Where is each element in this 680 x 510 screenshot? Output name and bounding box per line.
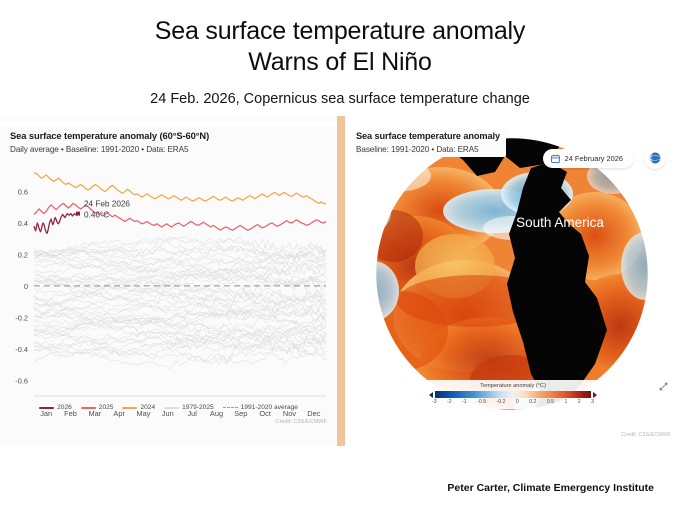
chart-panel-topbar [0, 122, 337, 127]
legend-swatch [223, 407, 238, 408]
y-axis-tick-label: 0.6 [18, 188, 28, 197]
ensemble-lines [34, 236, 326, 369]
colorbar-ticks: -3-2-1-0.5-0.200.20.5123 [429, 399, 597, 405]
colorbar-tick: 0.5 [547, 399, 554, 405]
legend-label: 2024 [140, 404, 155, 411]
y-axis-tick-label: 0.2 [18, 250, 28, 259]
globe-view-button[interactable] [644, 147, 666, 169]
globe-icon [648, 151, 662, 165]
map-panel: South America Sea surface temperature an… [345, 116, 680, 446]
chart-title: Sea surface temperature anomaly (60°S-60… [10, 130, 209, 141]
legend-item-2025[interactable]: 2025 [81, 404, 114, 411]
colorbar-tick: -0.2 [497, 399, 506, 405]
annotation-value: 0.46°C [84, 211, 109, 220]
y-axis-tick-label: 0.4 [18, 219, 28, 228]
chart-panel: Sea surface temperature anomaly (60°S-60… [0, 116, 337, 446]
series-line-2024 [34, 173, 326, 204]
y-axis-tick-label: -0.4 [15, 345, 28, 354]
legend-item-1991-2020-average[interactable]: 1991-2020 average [223, 404, 298, 411]
legend-label: 1979-2025 [182, 404, 214, 411]
colorbar-tick: 0 [516, 399, 519, 405]
series-line-2025 [34, 203, 326, 230]
map-title: Sea surface temperature anomaly [356, 131, 500, 141]
footer-attribution: Peter Carter, Climate Emergency Institut… [447, 482, 654, 494]
colorbar-tick: -2 [447, 399, 452, 405]
page-title-line-2: Warns of El Niño [0, 47, 680, 78]
legend-label: 2025 [99, 404, 114, 411]
colorbar-title: Temperature anomaly (°C) [429, 383, 597, 389]
y-axis-tick-label: 0 [24, 282, 28, 291]
legend-swatch [122, 407, 137, 409]
colorbar-arrow-right [593, 392, 597, 398]
legend-item-1979-2025[interactable]: 1979-2025 [164, 404, 214, 411]
colorbar-tick: 2 [578, 399, 581, 405]
legend-label: 2026 [57, 404, 72, 411]
colorbar-row [429, 391, 597, 398]
colorbar-tick: -1 [462, 399, 467, 405]
colorbar: Temperature anomaly (°C) -3-2-1-0.5-0.20… [423, 380, 603, 409]
series-line-2026 [34, 214, 78, 234]
map-subtitle: Baseline: 1991-2020 • Data: ERA5 [356, 145, 500, 154]
legend-swatch [164, 407, 179, 409]
media-strip: Sea surface temperature anomaly (60°S-60… [0, 116, 680, 446]
legend-swatch [81, 407, 96, 409]
date-selector-label: 24 February 2026 [565, 154, 623, 163]
colorbar-tick: 0.2 [529, 399, 536, 405]
annotation-date: 24 Feb 2026 [84, 200, 130, 209]
chart-credit: Credit: C3S/ECMWF [275, 419, 327, 425]
colorbar-arrow-left [429, 392, 433, 398]
calendar-icon [551, 154, 560, 163]
colorbar-tick: 1 [564, 399, 567, 405]
colorbar-tick: -0.5 [477, 399, 486, 405]
colorbar-gradient [435, 391, 591, 398]
page-title-line-1: Sea surface temperature anomaly [0, 16, 680, 47]
legend-label: 1991-2020 average [241, 404, 298, 411]
legend-item-2026[interactable]: 2026 [39, 404, 72, 411]
page-subtitle: 24 Feb. 2026, Copernicus sea surface tem… [0, 91, 680, 107]
title-block: Sea surface temperature anomaly Warns of… [0, 0, 680, 107]
y-axis-tick-label: -0.2 [15, 313, 28, 322]
chart-subtitle: Daily average • Baseline: 1991-2020 • Da… [10, 145, 209, 154]
map-credit: Credit: C3S/ECMWF [621, 432, 671, 438]
legend-item-2024[interactable]: 2024 [122, 404, 155, 411]
chart-legend: 2026202520241979-20251991-2020 average [0, 404, 337, 411]
colorbar-tick: 3 [591, 399, 594, 405]
colorbar-tick: -3 [432, 399, 437, 405]
annotation-marker [76, 212, 80, 216]
y-axis-tick-label: -0.6 [15, 376, 28, 385]
date-selector[interactable]: 24 February 2026 [543, 149, 634, 168]
chart-header: Sea surface temperature anomaly (60°S-60… [10, 130, 209, 154]
legend-swatch [39, 407, 54, 409]
expand-icon[interactable] [659, 378, 668, 396]
map-header: Sea surface temperature anomaly Baseline… [354, 129, 506, 157]
